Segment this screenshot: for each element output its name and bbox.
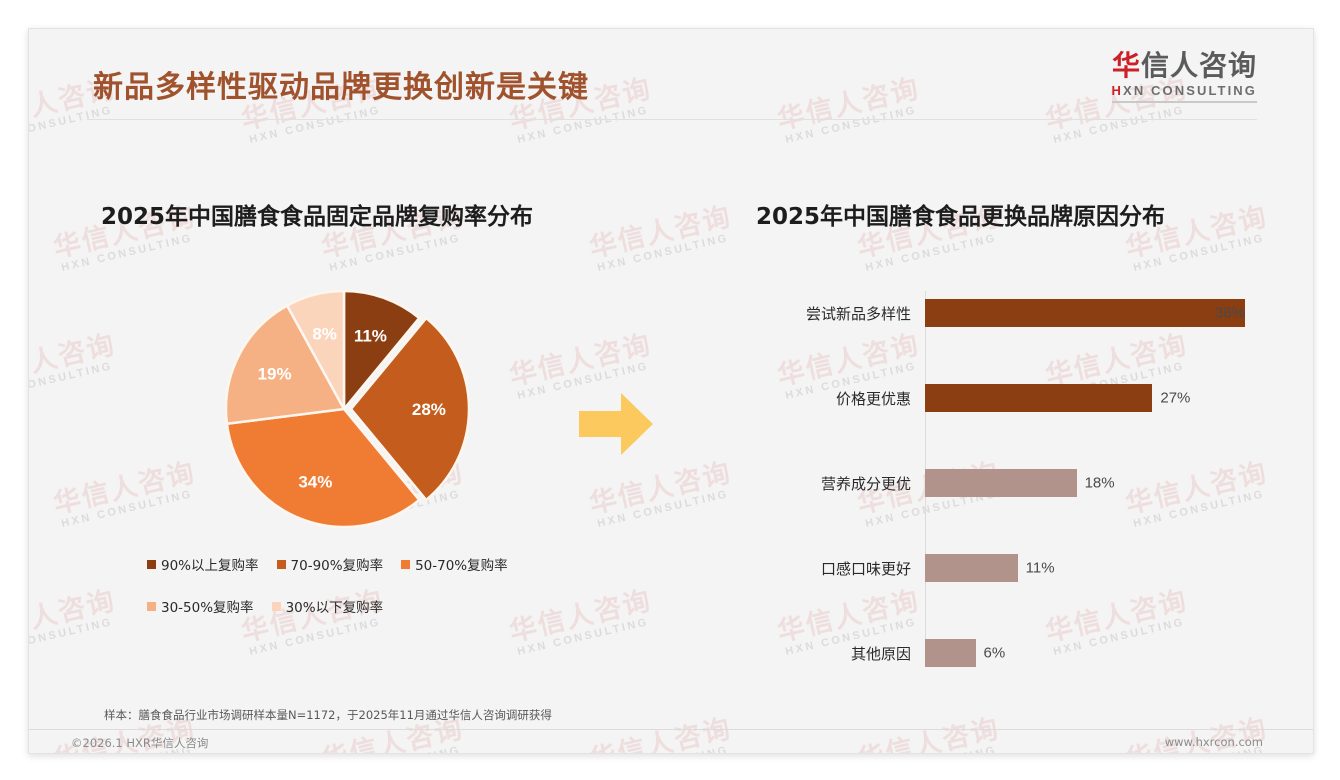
legend-label: 70-90%复购率 <box>291 554 384 574</box>
bar-category-label: 价格更优惠 <box>719 388 925 409</box>
legend-item[interactable]: 30-50%复购率 <box>147 596 254 616</box>
slide-header: 新品多样性驱动品牌更换创新是关键 华信人咨询 HXN CONSULTING <box>29 29 1313 125</box>
legend-swatch-icon <box>401 560 410 569</box>
logo-cn-rest: 信人咨询 <box>1141 49 1257 82</box>
bar-chart-row: 价格更优惠27% <box>719 379 1279 417</box>
pie-chart-legend: 90%以上复购率70-90%复购率50-70%复购率30-50%复购率30%以下… <box>147 554 587 638</box>
footer-website: www.hxrcon.com <box>1165 735 1263 749</box>
bar-track: 27% <box>925 379 1279 417</box>
bar-fill[interactable] <box>925 469 1077 497</box>
pie-slice-label: 19% <box>258 365 292 384</box>
legend-row: 90%以上复购率70-90%复购率50-70%复购率 <box>147 554 587 574</box>
bar-category-label: 口感口味更好 <box>719 558 925 579</box>
footer-copyright: ©2026.1 HXR华信人咨询 <box>71 735 208 751</box>
logo-chinese-text: 华信人咨询 <box>1112 51 1257 81</box>
bar-track: 38% <box>925 294 1279 332</box>
legend-item[interactable]: 90%以上复购率 <box>147 554 259 574</box>
bar-track: 6% <box>925 634 1279 672</box>
watermark-text: 华信人咨询HXN CONSULTING <box>585 450 737 530</box>
pie-slice-label: 11% <box>354 327 387 346</box>
bar-category-label: 尝试新品多样性 <box>719 303 925 324</box>
sample-footnote: 样本：膳食食品行业市场调研样本量N=1172，于2025年11月通过华信人咨询调… <box>104 707 552 723</box>
pie-chart-svg: 11%28%34%19%8% <box>209 274 479 544</box>
pie-slice-label: 28% <box>412 400 446 419</box>
title-divider <box>87 119 1257 120</box>
bar-fill[interactable] <box>925 554 1018 582</box>
page-title: 新品多样性驱动品牌更换创新是关键 <box>93 62 589 106</box>
legend-swatch-icon <box>272 602 281 611</box>
logo-en-rest: XN CONSULTING <box>1123 83 1257 98</box>
right-arrow-icon <box>577 389 655 459</box>
legend-item[interactable]: 30%以下复购率 <box>272 596 384 616</box>
legend-label: 50-70%复购率 <box>415 554 508 574</box>
logo-en-first-char: H <box>1112 83 1124 98</box>
bar-chart-panel: 尝试新品多样性38%价格更优惠27%营养成分更优18%口感口味更好11%其他原因… <box>719 269 1279 669</box>
bar-chart-row: 口感口味更好11% <box>719 549 1279 587</box>
slide-card: 华信人咨询HXN CONSULTING华信人咨询HXN CONSULTING华信… <box>28 28 1314 754</box>
logo-cn-first-char: 华 <box>1112 49 1141 82</box>
legend-swatch-icon <box>147 602 156 611</box>
legend-item[interactable]: 70-90%复购率 <box>277 554 384 574</box>
bar-chart-row: 营养成分更优18% <box>719 464 1279 502</box>
bar-fill[interactable] <box>925 639 976 667</box>
legend-label: 30%以下复购率 <box>286 596 384 616</box>
bar-category-label: 其他原因 <box>719 643 925 664</box>
legend-label: 30-50%复购率 <box>161 596 254 616</box>
bar-fill[interactable] <box>925 299 1245 327</box>
pie-slice-label: 8% <box>312 325 337 344</box>
legend-item[interactable]: 50-70%复购率 <box>401 554 508 574</box>
watermark-text: 华信人咨询HXN CONSULTING <box>585 194 737 274</box>
legend-row: 30-50%复购率30%以下复购率 <box>147 596 587 616</box>
bar-value-label: 27% <box>1160 390 1190 407</box>
pie-chart-title: 2025年中国膳食食品固定品牌复购率分布 <box>101 197 533 231</box>
logo-english-text: HXN CONSULTING <box>1112 83 1257 98</box>
bar-category-label: 营养成分更优 <box>719 473 925 494</box>
bar-chart-row: 其他原因6% <box>719 634 1279 672</box>
pie-chart-panel: 11%28%34%19%8% 90%以上复购率70-90%复购率50-70%复购… <box>79 254 589 674</box>
bar-fill[interactable] <box>925 384 1152 412</box>
bar-value-label: 18% <box>1085 475 1115 492</box>
bar-value-label: 38% <box>1215 305 1245 322</box>
footer-divider <box>29 729 1313 730</box>
legend-swatch-icon <box>147 560 156 569</box>
bar-chart-title: 2025年中国膳食食品更换品牌原因分布 <box>756 197 1165 231</box>
bar-track: 18% <box>925 464 1279 502</box>
bar-track: 11% <box>925 549 1279 587</box>
bar-chart-row: 尝试新品多样性38% <box>719 294 1279 332</box>
legend-swatch-icon <box>277 560 286 569</box>
bar-value-label: 6% <box>984 645 1006 662</box>
legend-label: 90%以上复购率 <box>161 554 259 574</box>
bar-value-label: 11% <box>1026 560 1055 577</box>
company-logo: 华信人咨询 HXN CONSULTING <box>1112 51 1257 103</box>
pie-slice-label: 34% <box>298 472 332 491</box>
